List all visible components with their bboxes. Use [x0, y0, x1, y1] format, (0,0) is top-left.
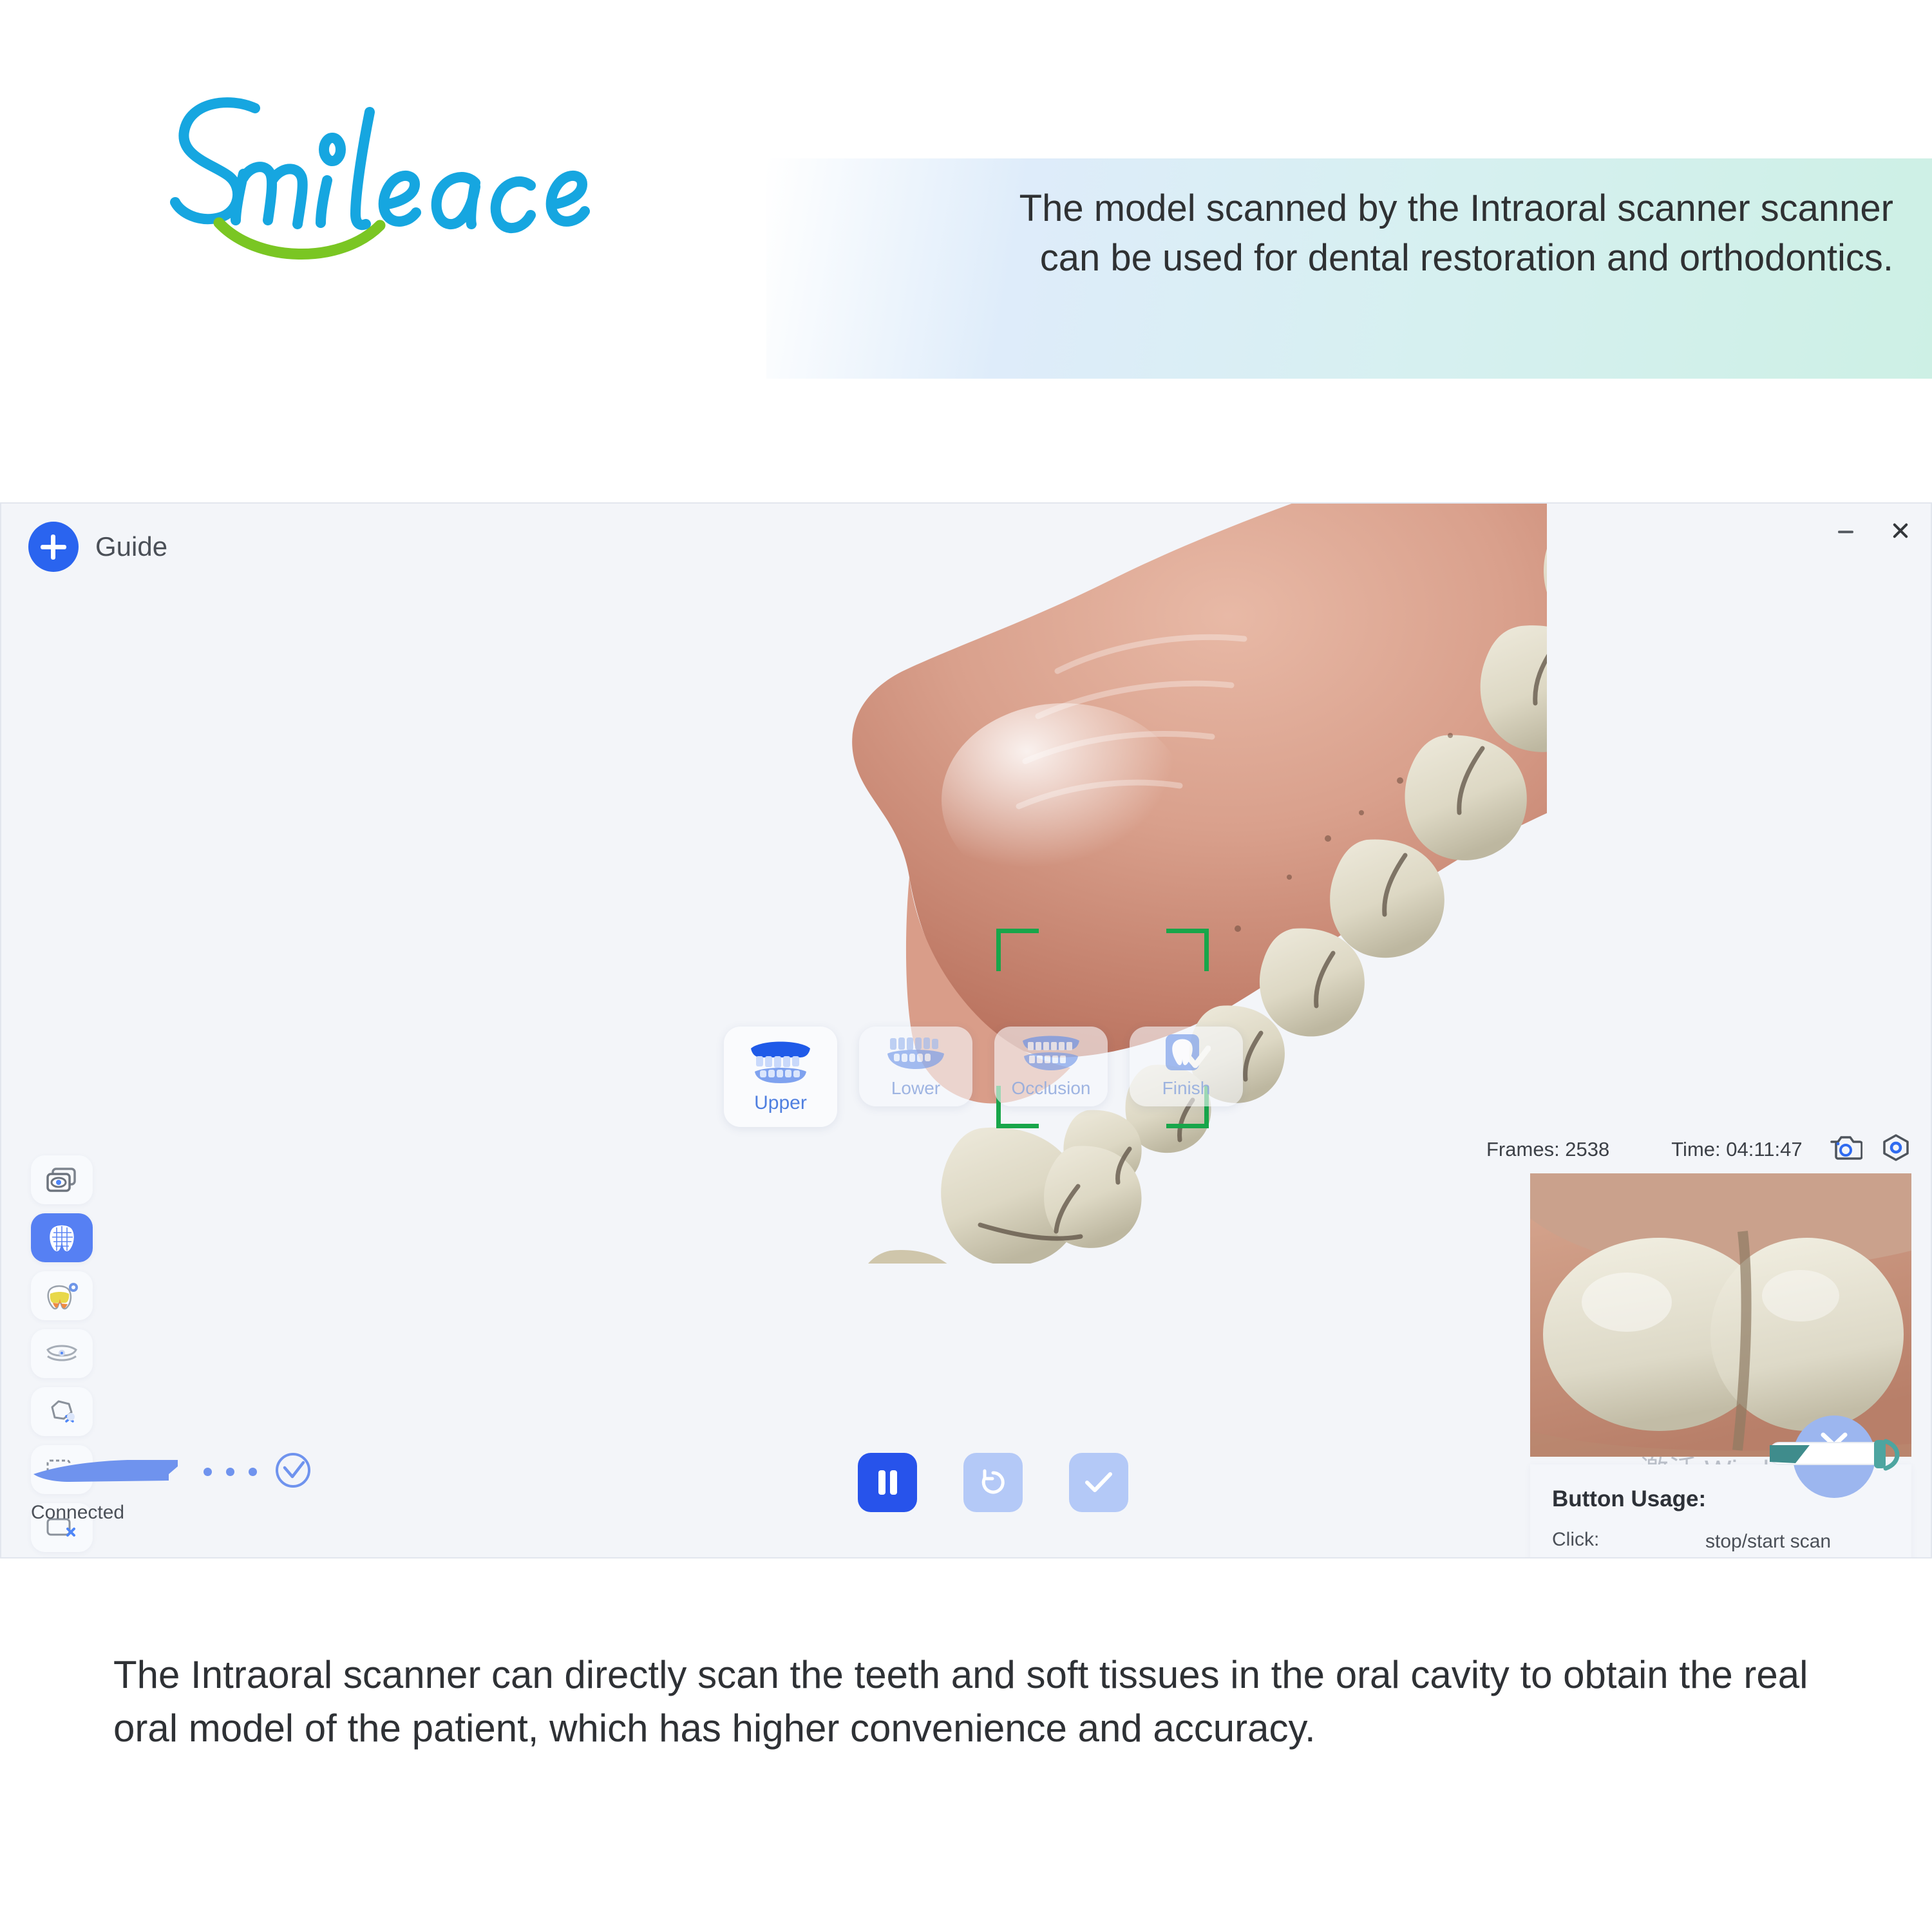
target-corner-top-right	[1166, 929, 1209, 971]
usage-value: stop/start scan	[1705, 1529, 1891, 1554]
arch-align-icon[interactable]	[31, 1329, 93, 1378]
check-circle-icon	[274, 1451, 312, 1493]
upper-arch-icon	[746, 1038, 815, 1086]
hex-target-icon[interactable]	[1880, 1133, 1911, 1165]
lasso-select-icon[interactable]	[31, 1387, 93, 1436]
guide-label: Guide	[95, 531, 167, 562]
close-icon[interactable]	[1887, 518, 1913, 544]
connection-status-label: Connected	[31, 1502, 312, 1524]
double-chevron-down-icon	[1814, 1427, 1854, 1462]
tab-upper-label: Upper	[754, 1092, 807, 1114]
reset-button[interactable]	[963, 1453, 1023, 1512]
pause-button[interactable]	[858, 1453, 917, 1512]
frames-counter: Frames: 2538	[1486, 1138, 1609, 1161]
scan-status-bar: Frames: 2538 Time: 04:11:47	[1486, 1133, 1911, 1165]
camera-icon[interactable]	[1829, 1134, 1862, 1164]
rotate-ccw-icon	[978, 1467, 1009, 1498]
occlusion-icon	[1019, 1034, 1083, 1074]
collapse-panel-button[interactable]	[1793, 1416, 1875, 1498]
pause-icon	[875, 1468, 900, 1497]
usage-key: Click:	[1552, 1529, 1705, 1554]
banner-text: The model scanned by the Intraoral scann…	[992, 184, 1893, 283]
confirm-button[interactable]	[1069, 1453, 1128, 1512]
window-controls	[1833, 518, 1913, 544]
gum-tooth-color-icon[interactable]	[31, 1271, 93, 1320]
minimize-icon[interactable]	[1833, 518, 1859, 544]
lower-arch-icon	[884, 1034, 948, 1074]
elapsed-time: Time: 04:11:47	[1671, 1138, 1802, 1161]
scanner-wand-icon	[31, 1452, 184, 1492]
header-banner: The model scanned by the Intraoral scann…	[766, 158, 1932, 379]
tab-finish-label: Finish	[1162, 1078, 1211, 1099]
tab-finish[interactable]: Finish	[1130, 1027, 1243, 1106]
target-corner-top-left	[996, 929, 1039, 971]
connection-row	[31, 1451, 312, 1493]
scanner-app-window: Guide	[0, 502, 1932, 1558]
page-caption: The Intraoral scanner can directly scan …	[113, 1649, 1839, 1756]
multi-view-eye-icon[interactable]	[31, 1155, 93, 1204]
dot	[204, 1468, 212, 1476]
scan-step-tabs: Upper Lower	[724, 1027, 1243, 1127]
tooth-mesh-icon[interactable]	[31, 1213, 93, 1262]
usage-row: Click: stop/start scan	[1552, 1529, 1891, 1554]
dot	[226, 1468, 234, 1476]
page-header: The model scanned by the Intraoral scann…	[0, 0, 1932, 399]
live-camera-preview	[1530, 1173, 1911, 1457]
tab-lower-label: Lower	[891, 1078, 940, 1099]
device-connection-status: Connected	[31, 1451, 312, 1524]
connection-dots	[204, 1468, 257, 1476]
scanned-upper-arch-model	[529, 504, 1547, 1264]
tab-occlusion-label: Occlusion	[1012, 1078, 1091, 1099]
dot	[249, 1468, 257, 1476]
scan-controls	[858, 1453, 1128, 1512]
brand-logo	[147, 77, 681, 264]
status-icon-group	[1829, 1133, 1911, 1165]
tab-lower[interactable]: Lower	[859, 1027, 972, 1106]
guide-button[interactable]: Guide	[28, 522, 167, 572]
plus-icon	[28, 522, 79, 572]
tab-occlusion[interactable]: Occlusion	[994, 1027, 1108, 1106]
tab-upper[interactable]: Upper	[724, 1027, 837, 1127]
check-icon	[1083, 1469, 1115, 1496]
finish-tooth-check-icon	[1162, 1034, 1211, 1074]
